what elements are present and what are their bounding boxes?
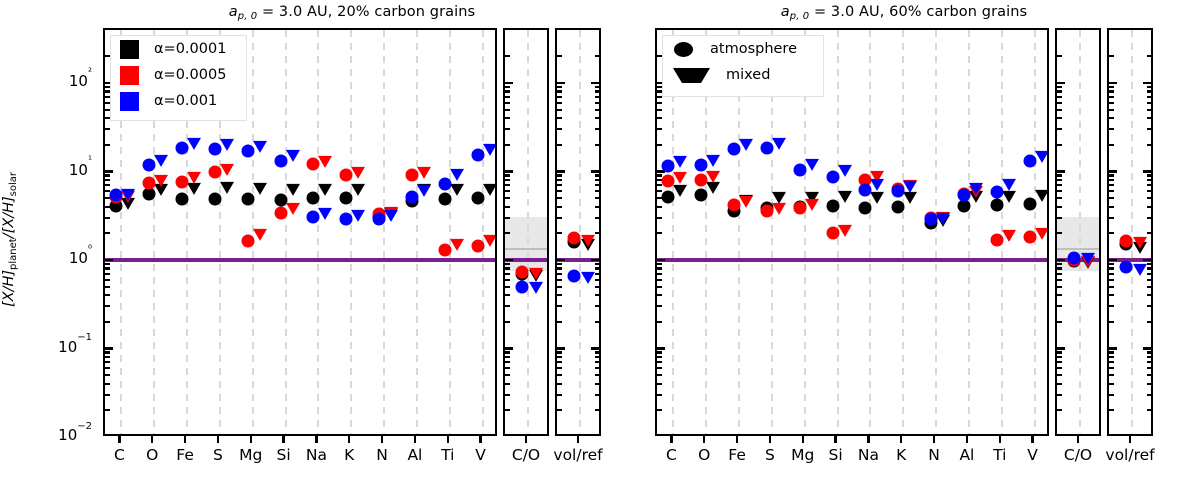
- x-tick: [118, 436, 120, 443]
- y-tick-minor: [1147, 351, 1152, 353]
- y-tick-major: [1109, 170, 1117, 172]
- y-tick-minor: [105, 273, 110, 275]
- y-tick-minor: [595, 174, 600, 176]
- y-tick-minor: [1057, 409, 1062, 411]
- x-axis-label-Mg: Mg: [239, 446, 262, 464]
- data-point-mixed: [286, 203, 300, 215]
- y-tick-minor: [557, 90, 562, 92]
- y-tick-minor: [1057, 294, 1062, 296]
- data-point-atmosphere: [516, 265, 529, 278]
- y-tick-minor: [1147, 409, 1152, 411]
- y-tick-minor: [557, 117, 562, 119]
- y-tick-minor: [557, 374, 562, 376]
- y-tick-minor: [595, 361, 600, 363]
- y-tick-minor: [1109, 374, 1114, 376]
- x-axis-label-N: N: [376, 446, 388, 464]
- y-tick-minor: [1109, 217, 1114, 219]
- y-tick-minor: [595, 96, 600, 98]
- gridline-vertical: [579, 30, 581, 434]
- y-tick-minor: [557, 197, 562, 199]
- y-tick-minor: [595, 184, 600, 186]
- y-tick-minor: [1109, 279, 1114, 281]
- gridline-vertical: [449, 30, 451, 434]
- x-tick: [250, 436, 252, 443]
- y-tick-minor: [505, 206, 510, 208]
- y-tick-minor: [105, 184, 110, 186]
- y-tick-minor: [505, 55, 510, 57]
- y-tick-minor: [595, 351, 600, 353]
- y-tick-minor: [557, 174, 562, 176]
- panel-title: ap, 0 = 3.0 AU, 60% carbon grains: [654, 4, 1154, 22]
- x-axis-label-C-O: C/O: [512, 446, 540, 464]
- x-axis-label-Si: Si: [829, 446, 843, 464]
- data-point-mixed: [1133, 263, 1147, 275]
- y-axis-tick-label: 10²: [69, 72, 92, 90]
- y-tick-minor: [1147, 361, 1152, 363]
- y-tick-minor: [557, 305, 562, 307]
- data-point-mixed: [706, 171, 720, 183]
- y-tick-minor: [657, 190, 662, 192]
- y-tick-major: [591, 170, 599, 172]
- y-tick-minor: [657, 117, 662, 119]
- y-tick-minor: [657, 232, 662, 234]
- data-point-mixed: [739, 139, 753, 151]
- y-tick-minor: [1147, 374, 1152, 376]
- y-tick-minor: [1109, 361, 1114, 363]
- x-tick: [447, 436, 449, 443]
- y-tick-minor: [1057, 179, 1062, 181]
- y-tick-minor: [1057, 184, 1062, 186]
- legend-swatch-icon: [120, 40, 139, 59]
- x-axis-label-Ti: Ti: [441, 446, 454, 464]
- y-tick-minor: [1147, 279, 1152, 281]
- y-tick-minor: [1109, 174, 1114, 176]
- y-tick-minor: [1057, 217, 1062, 219]
- data-point-mixed: [581, 272, 595, 284]
- y-tick-minor: [1109, 263, 1114, 265]
- y-tick-minor: [557, 409, 562, 411]
- y-tick-minor: [1147, 174, 1152, 176]
- y-tick-minor: [105, 267, 110, 269]
- y-tick-minor: [1109, 179, 1114, 181]
- y-tick-major: [505, 259, 513, 261]
- y-tick-minor: [595, 128, 600, 130]
- y-tick-minor: [1057, 367, 1062, 369]
- y-tick-minor: [1109, 367, 1114, 369]
- data-point-mixed: [936, 213, 950, 225]
- y-tick-major: [1109, 82, 1117, 84]
- data-point-mixed: [286, 183, 300, 195]
- gridline-vertical: [285, 30, 287, 434]
- y-tick-minor: [505, 128, 510, 130]
- y-tick-minor: [105, 109, 110, 111]
- x-axis-label-vol-ref: vol/ref: [1105, 446, 1154, 464]
- y-tick-minor: [557, 128, 562, 130]
- legend-alpha[interactable]: α=0.0001α=0.0005α=0.001: [110, 35, 247, 121]
- data-point-mixed: [417, 185, 431, 197]
- data-point-mixed: [673, 185, 687, 197]
- legend-item-alpha[interactable]: α=0.001: [111, 88, 246, 114]
- y-tick-minor: [657, 174, 662, 176]
- y-tick-minor: [557, 179, 562, 181]
- y-tick-minor: [557, 86, 562, 88]
- x-axis-label-O: O: [698, 446, 710, 464]
- y-tick-minor: [105, 409, 110, 411]
- y-tick-major: [1143, 259, 1151, 261]
- y-tick-major: [657, 259, 665, 261]
- legend-item-marker[interactable]: mixed: [663, 62, 823, 88]
- y-tick-minor: [1147, 356, 1152, 358]
- y-tick-minor: [657, 90, 662, 92]
- data-point-mixed: [483, 234, 497, 246]
- y-tick-minor: [557, 102, 562, 104]
- y-tick-minor: [105, 190, 110, 192]
- y-tick-minor: [505, 279, 510, 281]
- y-tick-major: [591, 259, 599, 261]
- y-tick-minor: [105, 321, 110, 323]
- y-tick-minor: [595, 179, 600, 181]
- gridline-vertical: [527, 30, 529, 434]
- x-axis-label-Na: Na: [858, 446, 879, 464]
- y-tick-minor: [595, 279, 600, 281]
- y-tick-minor: [1057, 263, 1062, 265]
- data-point-mixed: [286, 150, 300, 162]
- data-point-mixed: [1002, 191, 1016, 203]
- gridline-vertical: [350, 30, 352, 434]
- volref-axes: [555, 28, 601, 436]
- y-tick-major: [105, 259, 113, 261]
- y-tick-minor: [1109, 394, 1114, 396]
- y-tick-minor: [657, 206, 662, 208]
- y-tick-minor: [1109, 273, 1114, 275]
- x-axis-label-Fe: Fe: [728, 446, 746, 464]
- data-point-mixed: [121, 189, 135, 201]
- y-tick-minor: [505, 232, 510, 234]
- y-tick-minor: [1057, 96, 1062, 98]
- data-point-mixed: [318, 155, 332, 167]
- x-tick: [479, 436, 481, 443]
- gridline-vertical: [416, 30, 418, 434]
- y-tick-minor: [1057, 383, 1062, 385]
- y-tick-minor: [505, 294, 510, 296]
- y-tick-minor: [1147, 190, 1152, 192]
- data-point-mixed: [1035, 228, 1049, 240]
- y-tick-minor: [595, 356, 600, 358]
- y-tick-minor: [105, 96, 110, 98]
- y-tick-minor: [1057, 267, 1062, 269]
- x-axis-label-Mg: Mg: [791, 446, 814, 464]
- y-tick-minor: [1057, 117, 1062, 119]
- y-tick-minor: [1057, 190, 1062, 192]
- y-tick-minor: [557, 55, 562, 57]
- y-tick-minor: [595, 117, 600, 119]
- y-tick-minor: [1109, 128, 1114, 130]
- data-point-mixed: [870, 192, 884, 204]
- data-point-mixed: [450, 169, 464, 181]
- y-tick-minor: [595, 109, 600, 111]
- gridline-vertical: [968, 30, 970, 434]
- legend-item-marker[interactable]: atmosphere: [663, 36, 823, 62]
- y-tick-minor: [505, 86, 510, 88]
- y-tick-minor: [505, 263, 510, 265]
- y-tick-minor: [505, 174, 510, 176]
- data-point-mixed: [318, 183, 332, 195]
- y-tick-minor: [1109, 409, 1114, 411]
- x-tick: [217, 436, 219, 443]
- y-tick-minor: [557, 109, 562, 111]
- y-tick-minor: [505, 356, 510, 358]
- y-tick-major: [557, 170, 565, 172]
- y-tick-major: [557, 259, 565, 261]
- y-tick-minor: [1057, 273, 1062, 275]
- y-tick-minor: [657, 263, 662, 265]
- y-tick-minor: [1109, 117, 1114, 119]
- y-tick-minor: [1057, 351, 1062, 353]
- x-tick: [1031, 436, 1033, 443]
- y-tick-major: [505, 347, 513, 349]
- y-tick-minor: [1057, 232, 1062, 234]
- data-point-mixed: [483, 144, 497, 156]
- y-tick-minor: [557, 232, 562, 234]
- data-point-mixed: [529, 267, 543, 279]
- data-point-mixed: [581, 234, 595, 246]
- y-tick-minor: [657, 367, 662, 369]
- data-point-mixed: [969, 183, 983, 195]
- data-point-mixed: [351, 210, 365, 222]
- y-tick-minor: [105, 206, 110, 208]
- y-tick-minor: [557, 351, 562, 353]
- data-point-atmosphere: [568, 269, 581, 282]
- y-tick-minor: [1109, 184, 1114, 186]
- y-tick-minor: [1147, 197, 1152, 199]
- data-point-mixed: [154, 155, 168, 167]
- y-tick-minor: [505, 184, 510, 186]
- data-point-mixed: [154, 174, 168, 186]
- y-tick-major: [1057, 82, 1065, 84]
- y-tick-minor: [595, 267, 600, 269]
- y-tick-major: [1143, 170, 1151, 172]
- data-point-mixed: [1002, 179, 1016, 191]
- y-tick-minor: [1147, 117, 1152, 119]
- co-solar-line: [1057, 248, 1099, 250]
- y-tick-minor: [1147, 273, 1152, 275]
- x-tick: [736, 436, 738, 443]
- y-tick-minor: [1109, 294, 1114, 296]
- y-tick-minor: [105, 356, 110, 358]
- y-tick-minor: [657, 55, 662, 57]
- y-tick-minor: [1109, 267, 1114, 269]
- y-tick-minor: [505, 217, 510, 219]
- y-tick-minor: [1109, 190, 1114, 192]
- y-tick-major: [505, 170, 513, 172]
- data-point-mixed: [187, 138, 201, 150]
- data-point-mixed: [450, 184, 464, 196]
- co-axes: [503, 28, 549, 436]
- y-tick-minor: [1147, 305, 1152, 307]
- y-tick-minor: [595, 102, 600, 104]
- data-point-mixed: [384, 210, 398, 222]
- x-axis-label-C-O: C/O: [1064, 446, 1092, 464]
- y-tick-minor: [505, 361, 510, 363]
- gridline-vertical: [869, 30, 871, 434]
- y-tick-major: [557, 347, 565, 349]
- legend-swatch-icon: [120, 66, 139, 85]
- y-tick-minor: [1147, 286, 1152, 288]
- y-tick-minor: [1147, 179, 1152, 181]
- volref-axes: [1107, 28, 1153, 436]
- y-tick-minor: [657, 102, 662, 104]
- y-tick-minor: [505, 102, 510, 104]
- y-tick-minor: [557, 144, 562, 146]
- data-point-mixed: [1133, 237, 1147, 249]
- y-tick-major: [1143, 347, 1151, 349]
- y-tick-minor: [657, 96, 662, 98]
- y-tick-minor: [657, 144, 662, 146]
- y-tick-minor: [1057, 109, 1062, 111]
- y-tick-minor: [1057, 102, 1062, 104]
- y-tick-minor: [105, 286, 110, 288]
- y-tick-minor: [595, 394, 600, 396]
- y-tick-minor: [1057, 197, 1062, 199]
- x-tick: [1129, 436, 1131, 443]
- data-point-mixed: [1035, 190, 1049, 202]
- y-tick-minor: [557, 96, 562, 98]
- data-point-mixed: [706, 182, 720, 194]
- y-tick-minor: [1109, 55, 1114, 57]
- y-tick-minor: [105, 232, 110, 234]
- gridline-vertical: [317, 30, 319, 434]
- y-tick-minor: [1057, 279, 1062, 281]
- y-tick-minor: [105, 55, 110, 57]
- y-tick-major: [1143, 82, 1151, 84]
- y-tick-minor: [595, 217, 600, 219]
- data-point-mixed: [805, 199, 819, 211]
- data-point-mixed: [772, 203, 786, 215]
- x-tick: [867, 436, 869, 443]
- data-point-mixed: [1081, 253, 1095, 265]
- data-point-mixed: [187, 172, 201, 184]
- y-tick-minor: [595, 144, 600, 146]
- y-tick-minor: [595, 286, 600, 288]
- data-point-mixed: [253, 141, 267, 153]
- x-tick: [802, 436, 804, 443]
- y-tick-major: [1057, 259, 1065, 261]
- legend-marker[interactable]: atmospheremixed: [662, 35, 824, 97]
- y-tick-minor: [595, 273, 600, 275]
- data-point-mixed: [838, 164, 852, 176]
- y-tick-minor: [1109, 109, 1114, 111]
- solar-reference-line: [657, 258, 1047, 261]
- circle-marker-icon: [674, 42, 693, 57]
- y-tick-minor: [1057, 286, 1062, 288]
- y-tick-minor: [557, 273, 562, 275]
- y-tick-minor: [1109, 90, 1114, 92]
- data-point-mixed: [739, 196, 753, 208]
- y-tick-minor: [1109, 321, 1114, 323]
- y-tick-minor: [657, 267, 662, 269]
- y-tick-minor: [505, 144, 510, 146]
- x-tick: [670, 436, 672, 443]
- y-tick-minor: [557, 217, 562, 219]
- y-tick-minor: [657, 356, 662, 358]
- y-tick-minor: [105, 86, 110, 88]
- y-tick-minor: [505, 374, 510, 376]
- y-tick-minor: [1109, 86, 1114, 88]
- y-tick-minor: [505, 286, 510, 288]
- y-tick-minor: [557, 263, 562, 265]
- y-tick-major: [591, 82, 599, 84]
- data-point-mixed: [450, 239, 464, 251]
- y-tick-minor: [1109, 197, 1114, 199]
- legend-item-alpha[interactable]: α=0.0005: [111, 62, 246, 88]
- y-tick-minor: [1057, 361, 1062, 363]
- y-tick-minor: [505, 197, 510, 199]
- triangle-down-marker-icon: [673, 68, 710, 83]
- y-tick-minor: [505, 267, 510, 269]
- x-tick: [414, 436, 416, 443]
- y-tick-minor: [557, 206, 562, 208]
- co-solar-band: [505, 217, 547, 272]
- y-tick-minor: [657, 217, 662, 219]
- y-tick-minor: [595, 321, 600, 323]
- y-tick-major: [591, 347, 599, 349]
- y-tick-minor: [1147, 394, 1152, 396]
- y-tick-minor: [1109, 286, 1114, 288]
- y-tick-minor: [657, 128, 662, 130]
- x-axis-label-V: V: [475, 446, 486, 464]
- y-tick-minor: [557, 294, 562, 296]
- x-tick: [933, 436, 935, 443]
- y-tick-minor: [105, 217, 110, 219]
- y-tick-minor: [657, 361, 662, 363]
- y-tick-minor: [505, 273, 510, 275]
- gridline-vertical: [902, 30, 904, 434]
- y-tick-major: [1057, 170, 1065, 172]
- x-tick: [999, 436, 1001, 443]
- y-tick-minor: [595, 197, 600, 199]
- x-tick: [184, 436, 186, 443]
- y-tick-minor: [505, 305, 510, 307]
- y-tick-minor: [657, 197, 662, 199]
- y-tick-minor: [1147, 367, 1152, 369]
- y-tick-minor: [557, 356, 562, 358]
- y-tick-minor: [657, 109, 662, 111]
- legend-item-alpha[interactable]: α=0.0001: [111, 36, 246, 62]
- y-tick-minor: [1057, 374, 1062, 376]
- y-tick-minor: [1109, 356, 1114, 358]
- y-tick-minor: [505, 321, 510, 323]
- x-axis-label-Al: Al: [407, 446, 422, 464]
- y-tick-minor: [595, 86, 600, 88]
- legend-label: α=0.001: [154, 93, 217, 109]
- x-axis-label-S: S: [765, 446, 775, 464]
- y-tick-minor: [1057, 394, 1062, 396]
- data-point-mixed: [253, 183, 267, 195]
- y-tick-major: [657, 347, 665, 349]
- y-tick-minor: [105, 367, 110, 369]
- y-tick-minor: [1147, 144, 1152, 146]
- x-axis-label-Si: Si: [277, 446, 291, 464]
- x-tick: [525, 436, 527, 443]
- data-point-mixed: [187, 183, 201, 195]
- y-tick-minor: [595, 374, 600, 376]
- y-tick-major: [557, 82, 565, 84]
- y-axis-label: [X/H]planet/[X/H]solar: [0, 0, 21, 479]
- y-tick-minor: [105, 179, 110, 181]
- y-tick-minor: [505, 351, 510, 353]
- y-tick-minor: [1109, 232, 1114, 234]
- y-tick-minor: [595, 263, 600, 265]
